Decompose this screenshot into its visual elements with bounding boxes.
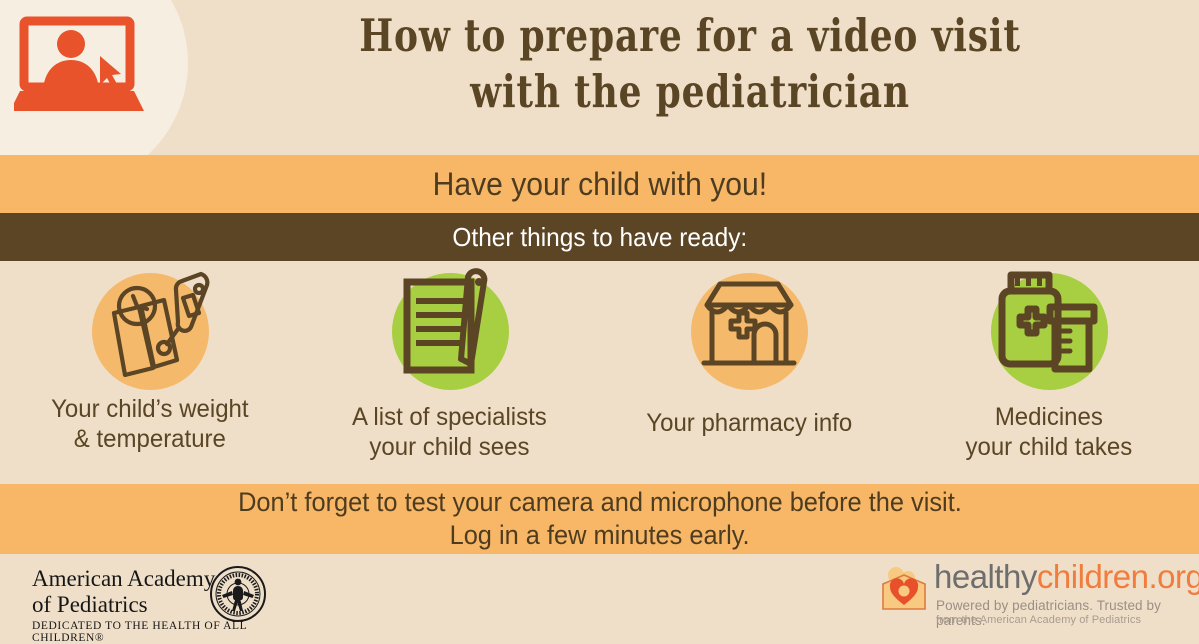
footer: American Academy of Pediatrics DEDICATED…: [0, 554, 1199, 628]
item-label: Your pharmacy info: [646, 408, 852, 438]
header: How to prepare for a video visit with th…: [0, 0, 1199, 155]
label-line-2: your child sees: [352, 432, 547, 462]
healthychildren-family-heart-icon: [878, 562, 930, 614]
wordmark-healthy: healthy: [934, 558, 1037, 595]
page-title: How to prepare for a video visit with th…: [298, 8, 1082, 120]
label-line-1: Medicines: [966, 402, 1133, 432]
preparation-items-row: Your child’s weight & temperature: [0, 265, 1199, 478]
label-line-2: & temperature: [51, 424, 248, 454]
have-child-text: Have your child with you!: [432, 166, 766, 203]
item-label: Medicines your child takes: [966, 402, 1133, 462]
icon-wrap: [75, 265, 225, 390]
aap-name-line-2: of Pediatrics: [32, 592, 215, 618]
have-child-band: Have your child with you!: [0, 155, 1199, 213]
item-weight-temperature: Your child’s weight & temperature: [0, 265, 300, 478]
medicine-bottles-icon: [974, 265, 1124, 390]
wordmark-children-org: children.org: [1037, 558, 1199, 595]
item-pharmacy-info: Your pharmacy info: [600, 265, 900, 478]
clipboard-pen-icon: [375, 265, 525, 390]
label-line-1: A list of specialists: [352, 402, 547, 432]
aap-name-line-1: American Academy: [32, 566, 215, 592]
item-label: A list of specialists your child sees: [352, 402, 547, 462]
title-line-2: with the pediatrician: [298, 64, 1082, 120]
reminder-line-2: Log in a few minutes early.: [449, 519, 749, 552]
healthychildren-wordmark: healthychildren.org: [934, 558, 1199, 596]
healthychildren-tagline-2: from the American Academy of Pediatrics: [936, 614, 1141, 626]
aap-seal-icon: [208, 564, 268, 624]
healthychildren-logo: healthychildren.org Powered by pediatric…: [878, 558, 1188, 626]
item-label: Your child’s weight & temperature: [51, 394, 248, 454]
icon-wrap: [974, 265, 1124, 390]
aap-logo: American Academy of Pediatrics DEDICATED…: [32, 562, 312, 626]
pharmacy-storefront-icon: [674, 265, 824, 390]
aap-tagline: DEDICATED TO THE HEALTH OF ALL CHILDREN®: [32, 620, 312, 644]
scale-thermometer-icon: [75, 265, 225, 390]
icon-wrap: [375, 265, 525, 390]
infographic-poster: How to prepare for a video visit with th…: [0, 0, 1199, 628]
reminder-band: Don’t forget to test your camera and mic…: [0, 484, 1199, 554]
reminder-line-1: Don’t forget to test your camera and mic…: [238, 486, 962, 519]
item-medicines: Medicines your child takes: [899, 265, 1199, 478]
icon-wrap: [674, 265, 824, 390]
label-line-1: Your pharmacy info: [646, 408, 852, 438]
title-line-1: How to prepare for a video visit: [298, 8, 1082, 64]
label-line-1: Your child’s weight: [51, 394, 248, 424]
label-line-2: your child takes: [966, 432, 1133, 462]
other-things-text: Other things to have ready:: [452, 222, 747, 253]
other-things-band: Other things to have ready:: [0, 213, 1199, 261]
item-specialist-list: A list of specialists your child sees: [300, 265, 600, 478]
aap-name: American Academy of Pediatrics: [32, 566, 215, 618]
laptop-video-call-icon: [14, 16, 144, 116]
